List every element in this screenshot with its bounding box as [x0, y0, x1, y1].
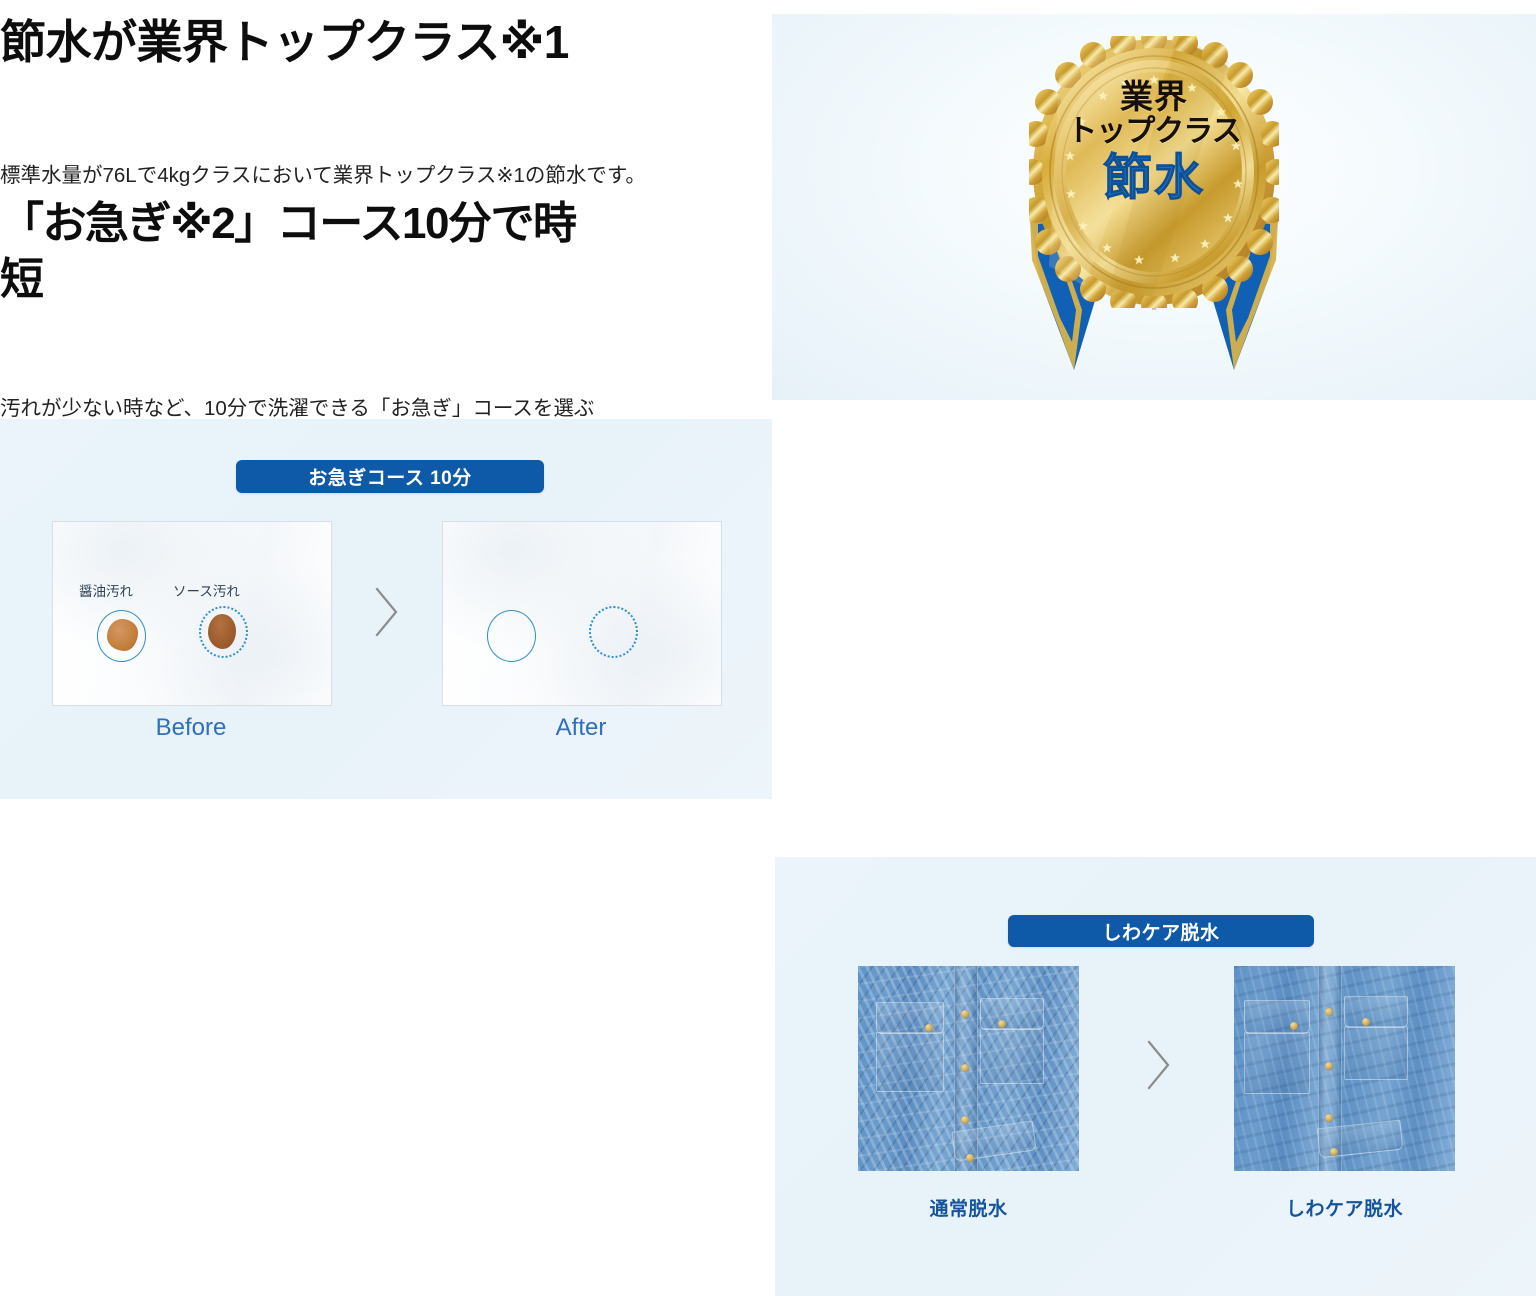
cuff-button: [1330, 1148, 1338, 1156]
quick-course-pill: お急ぎコース 10分: [236, 460, 544, 493]
water-saving-text-block: 節水が業界トップクラス※1 標準水量が76Lで4kgクラスにおいて業界トップクラ…: [0, 14, 690, 196]
pocket-flap-left: [876, 1002, 944, 1034]
water-saving-description: 標準水量が76Lで4kgクラスにおいて業界トップクラス※1の節水です。: [0, 156, 648, 196]
pocket-left: [876, 1032, 944, 1092]
gold-medal-icon: 業界 トップクラス 節水: [1029, 36, 1279, 308]
sauce-stain-label: ソース汚れ: [173, 580, 240, 600]
pocket-right: [1344, 1026, 1408, 1080]
award-badge-panel: 業界 トップクラス 節水: [772, 14, 1536, 400]
flap-button: [1362, 1018, 1370, 1026]
shirt-button: [1325, 1008, 1333, 1016]
chevron-right-icon: [374, 586, 400, 638]
stain-before-photo: 醤油汚れ ソース汚れ: [52, 521, 332, 706]
wrinkle-care-pill: しわケア脱水: [1008, 915, 1314, 947]
flap-button: [1290, 1022, 1298, 1030]
shirt-button: [1325, 1114, 1333, 1122]
pocket-left: [1244, 1032, 1310, 1094]
pocket-flap-right: [1344, 996, 1408, 1028]
shirt-button: [961, 1064, 969, 1072]
award-badge: 業界 トップクラス 節水: [1004, 28, 1304, 388]
soy-stain-label: 醤油汚れ: [79, 580, 133, 600]
soy-stain-blob: [107, 619, 138, 651]
clean-ring-soy: [487, 610, 536, 662]
cloth-texture: [53, 522, 331, 705]
feature-page: 節水が業界トップクラス※1 標準水量が76Lで4kgクラスにおいて業界トップクラ…: [0, 14, 1536, 1296]
pocket-right: [980, 1028, 1044, 1084]
before-caption: Before: [52, 714, 330, 742]
chevron-right-icon: [1146, 1039, 1172, 1091]
shirt-button: [1325, 1062, 1333, 1070]
water-saving-heading: 節水が業界トップクラス※1: [0, 14, 690, 72]
shirt-button: [961, 1010, 969, 1018]
quick-course-heading: 「お急ぎ※2」コース10分で時短: [0, 196, 610, 309]
pocket-flap-left: [1244, 1000, 1310, 1034]
wrinkle-care-spin-caption: しわケア脱水: [1234, 1194, 1455, 1221]
stain-after-photo: [442, 521, 722, 706]
clean-ring-sauce: [589, 606, 638, 658]
flap-button: [998, 1020, 1006, 1028]
cloth-texture: [443, 522, 721, 705]
pocket-flap-right: [980, 998, 1044, 1030]
flap-button: [925, 1024, 933, 1032]
cuff-button: [966, 1154, 974, 1162]
sauce-stain-blob: [208, 614, 236, 649]
normal-spin-caption: 通常脱水: [858, 1194, 1079, 1221]
wrinkle-care-spin-photo: [1234, 966, 1455, 1171]
after-caption: After: [442, 714, 720, 742]
shirt-button: [961, 1116, 969, 1124]
normal-spin-photo: [858, 966, 1079, 1171]
